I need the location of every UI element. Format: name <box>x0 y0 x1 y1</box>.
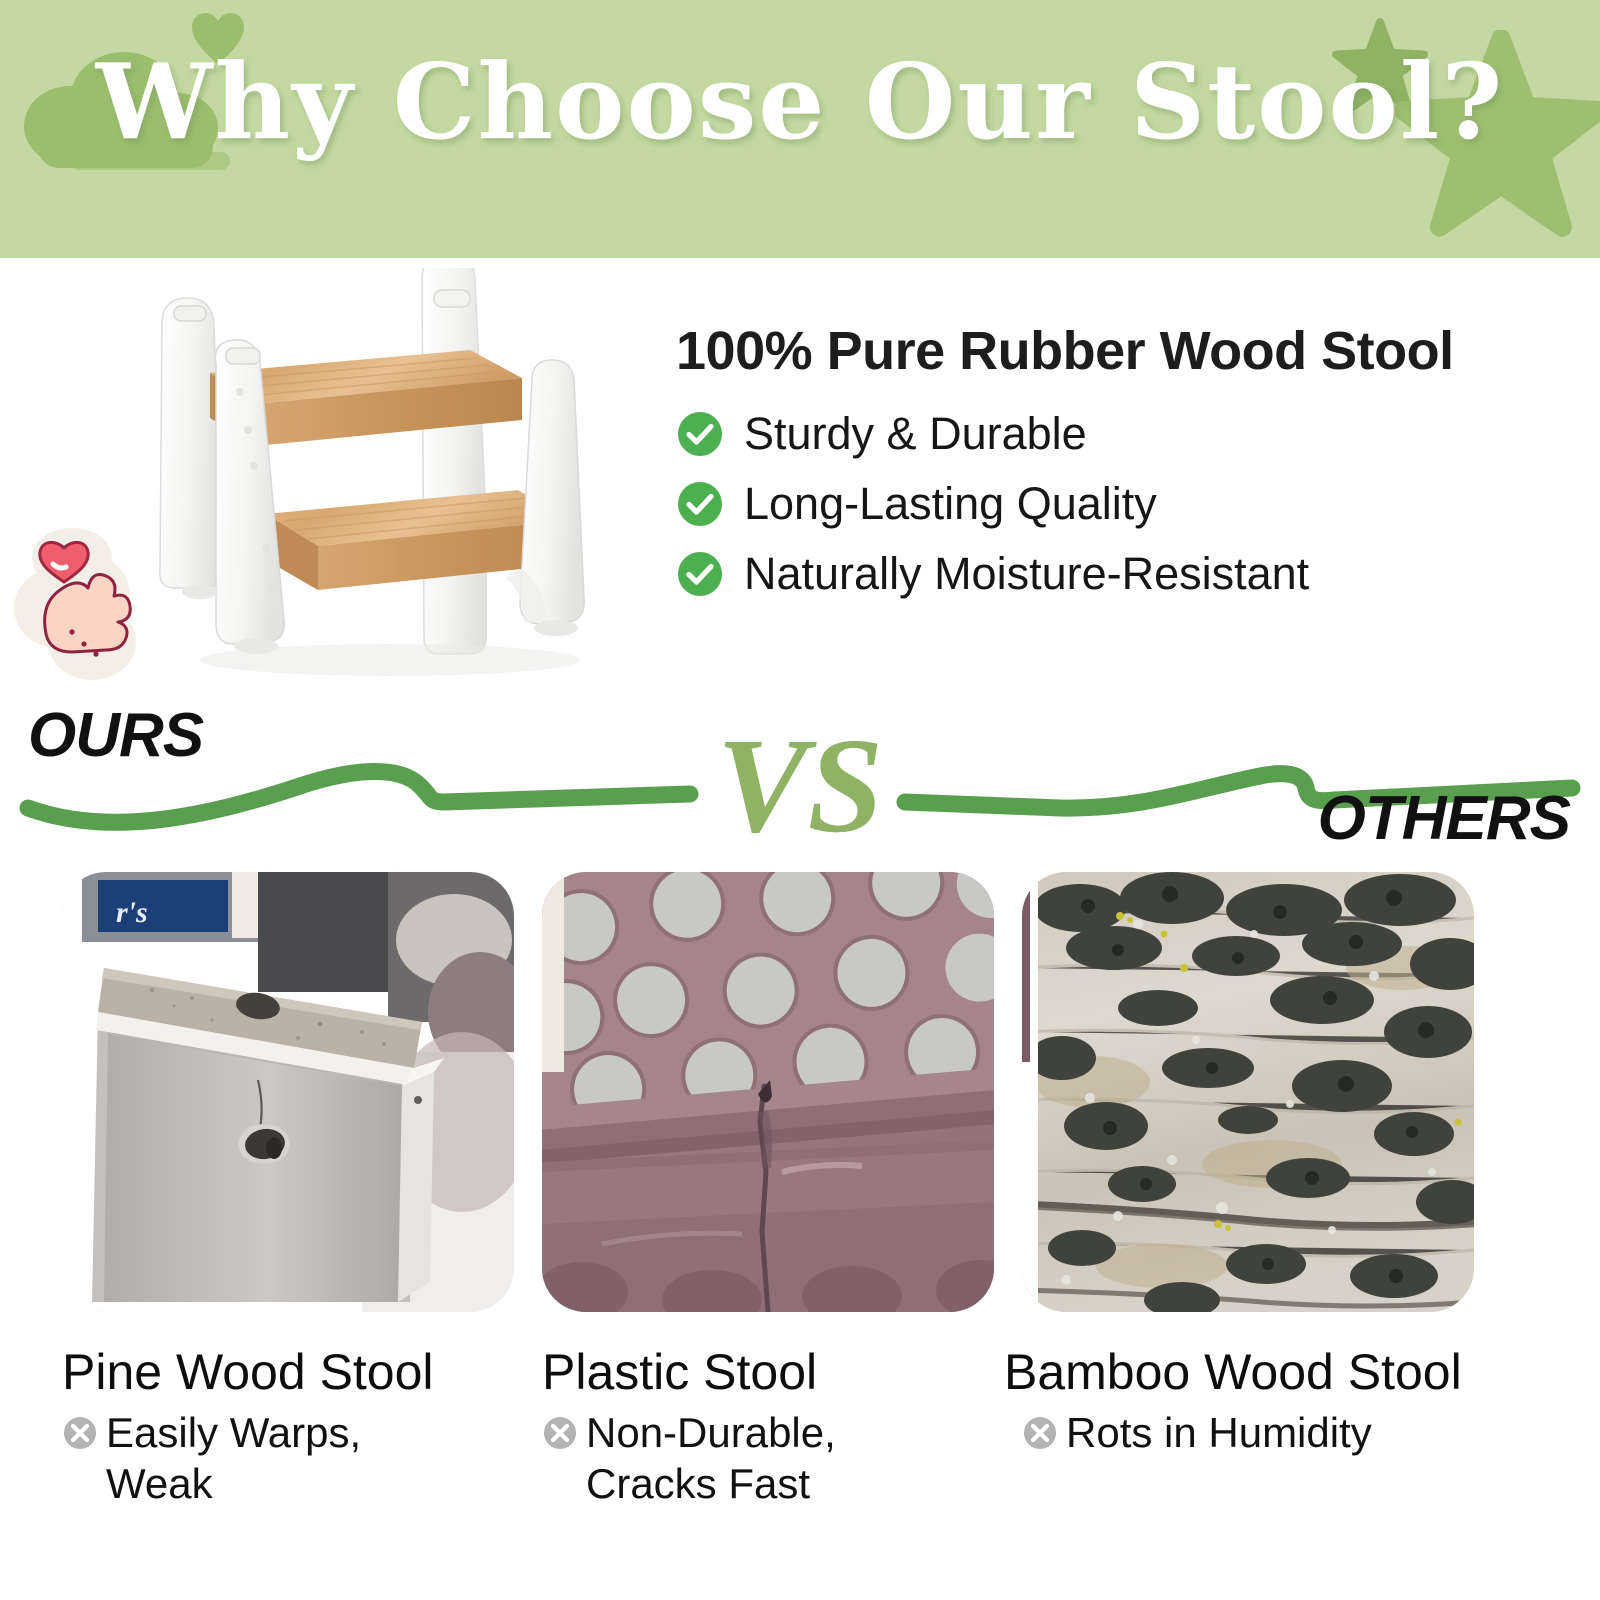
feature-item: Long-Lasting Quality <box>676 480 1556 528</box>
comparison-grid: r's <box>0 872 1600 1600</box>
column-con: Easily Warps, Weak <box>62 1407 514 1509</box>
feature-item: Naturally Moisture-Resistant <box>676 550 1556 598</box>
column-title: Plastic Stool <box>542 1346 994 1399</box>
finger-heart-sticker-icon <box>12 516 152 686</box>
plastic-stool-photo <box>542 872 994 1312</box>
con-text: Easily Warps, Weak <box>106 1407 361 1509</box>
check-circle-icon <box>676 480 724 528</box>
x-circle-icon <box>542 1415 578 1451</box>
feature-item: Sturdy & Durable <box>676 410 1556 458</box>
vs-label: VS <box>717 718 883 854</box>
feature-label: Sturdy & Durable <box>744 410 1087 457</box>
comparison-column: Plastic Stool Non-Durable, Cracks Fast <box>542 872 994 1509</box>
comparison-column: r's <box>62 872 514 1509</box>
product-section: 100% Pure Rubber Wood Stool Sturdy & Dur… <box>0 258 1600 710</box>
product-stool-image <box>70 268 630 698</box>
feature-label: Naturally Moisture-Resistant <box>744 550 1309 597</box>
others-label: OTHERS <box>1318 783 1570 854</box>
check-circle-icon <box>676 410 724 458</box>
bamboo-wood-stool-photo <box>1022 872 1474 1312</box>
column-con: Non-Durable, Cracks Fast <box>542 1407 994 1509</box>
column-con: Rots in Humidity <box>1022 1407 1474 1458</box>
pine-wood-stool-photo: r's <box>62 872 514 1312</box>
comparison-column: Bamboo Wood Stool Rots in Humidity <box>1022 872 1474 1458</box>
svg-text:r's: r's <box>116 896 148 929</box>
x-circle-icon <box>1022 1415 1058 1451</box>
con-text: Non-Durable, Cracks Fast <box>586 1407 836 1509</box>
feature-list-block: 100% Pure Rubber Wood Stool Sturdy & Dur… <box>676 320 1556 620</box>
feature-label: Long-Lasting Quality <box>744 480 1157 527</box>
con-text: Rots in Humidity <box>1066 1407 1372 1458</box>
header-band: Why Choose Our Stool? <box>0 0 1600 258</box>
ours-label: OURS <box>28 700 203 771</box>
page-title: Why Choose Our Stool? <box>0 0 1600 258</box>
x-circle-icon <box>62 1415 98 1451</box>
check-circle-icon <box>676 550 724 598</box>
product-heading: 100% Pure Rubber Wood Stool <box>676 320 1556 382</box>
column-title: Pine Wood Stool <box>62 1346 514 1399</box>
page-title-text: Why Choose Our Stool? <box>96 50 1505 154</box>
column-title: Bamboo Wood Stool <box>1004 1346 1474 1399</box>
